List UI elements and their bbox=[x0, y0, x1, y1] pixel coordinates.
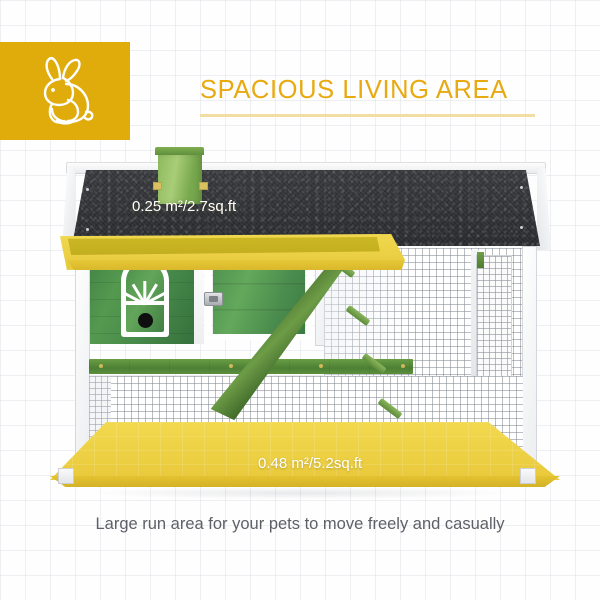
tray-front-lip bbox=[50, 476, 560, 487]
access-ramp bbox=[328, 256, 358, 421]
drop-shadow bbox=[90, 487, 510, 499]
rail-screw bbox=[229, 364, 233, 368]
rabbit-icon bbox=[22, 54, 108, 128]
product-illustration bbox=[50, 142, 560, 492]
platform-front-lip bbox=[60, 260, 405, 270]
vent-hinge-left bbox=[153, 182, 162, 190]
title-underline bbox=[200, 114, 535, 117]
product-feature-image: SPACIOUS LIVING AREA bbox=[0, 0, 600, 600]
vent-box-body bbox=[158, 154, 202, 204]
window-mullion bbox=[121, 301, 169, 305]
roof-screw bbox=[86, 188, 89, 191]
roof-screw bbox=[86, 228, 89, 231]
lower-area-label: 0.48 m²/5.2sq.ft bbox=[258, 455, 362, 472]
rabbit-badge bbox=[0, 42, 130, 140]
side-door-latch[interactable] bbox=[477, 252, 484, 268]
rail-screw bbox=[319, 364, 323, 368]
page-title: SPACIOUS LIVING AREA bbox=[200, 76, 550, 105]
roof-right-eave bbox=[537, 168, 551, 250]
hutch-foot bbox=[520, 468, 536, 484]
vent-box-lid bbox=[155, 147, 204, 155]
roof-screw bbox=[520, 226, 523, 229]
caption-text: Large run area for your pets to move fre… bbox=[0, 515, 600, 534]
vent-hinge-right bbox=[199, 182, 208, 190]
vent-lid-box[interactable] bbox=[157, 147, 202, 204]
rail-screw bbox=[401, 364, 405, 368]
entry-hole bbox=[138, 313, 153, 328]
hutch-foot bbox=[58, 468, 74, 484]
roof-screw bbox=[520, 186, 523, 189]
metal-latch[interactable] bbox=[204, 292, 223, 306]
upper-floor-tray bbox=[60, 234, 405, 270]
rail-screw bbox=[99, 364, 103, 368]
upper-area-label: 0.25 m²/2.7sq.ft bbox=[132, 198, 236, 215]
